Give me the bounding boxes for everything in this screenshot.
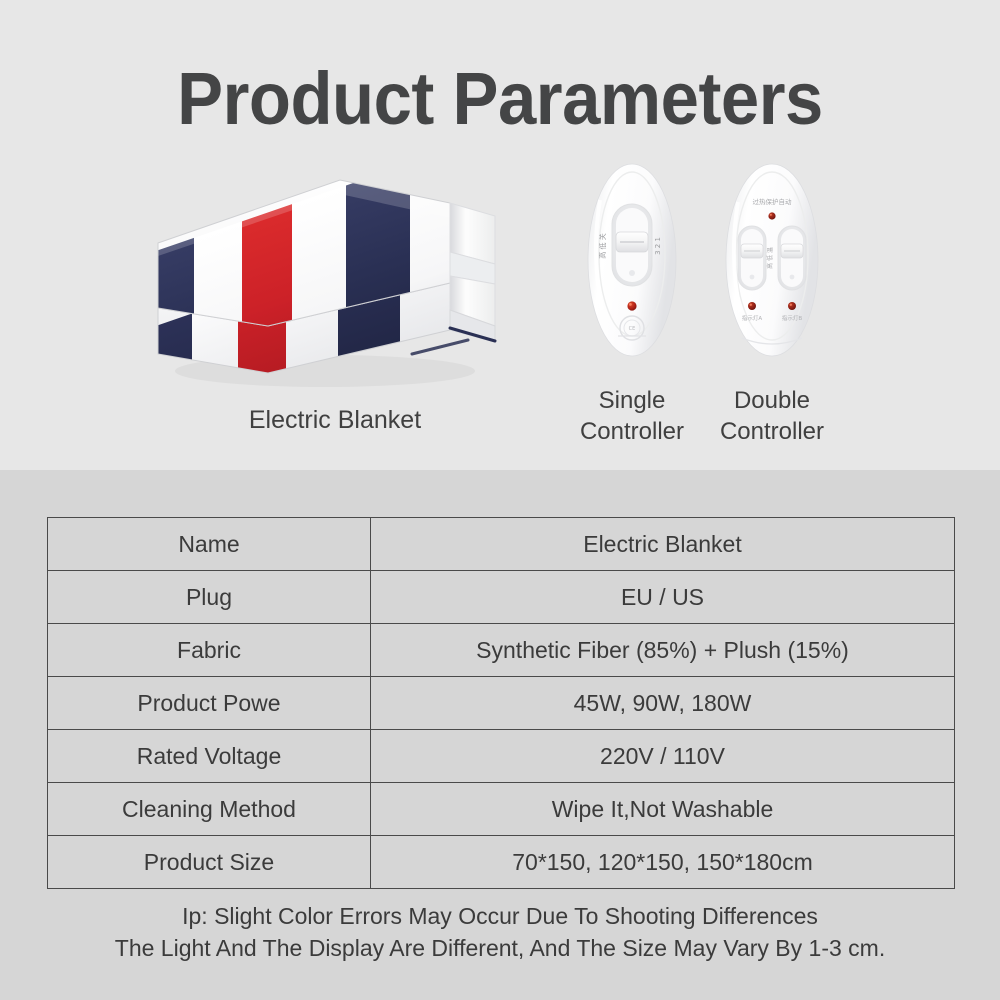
svg-text:CE: CE: [629, 326, 636, 332]
spec-value: EU / US: [371, 571, 955, 624]
table-row: Cleaning Method Wipe It,Not Washable: [48, 783, 955, 836]
double-slider-controller-icon: 过热保护自动 高 低 温 指示灯A 指示灯B: [712, 160, 832, 360]
spec-key: Name: [48, 518, 371, 571]
double-controller-label: Double Controller: [687, 385, 857, 447]
spec-value: Electric Blanket: [371, 518, 955, 571]
spec-value: 45W, 90W, 180W: [371, 677, 955, 730]
table-row: Name Electric Blanket: [48, 518, 955, 571]
single-controller-figure: 高 低 关 3 2 1 CE Single Controller: [557, 160, 707, 460]
spec-key: Rated Voltage: [48, 730, 371, 783]
table-row: Product Size 70*150, 120*150, 150*180cm: [48, 836, 955, 889]
svg-text:3 2 1: 3 2 1: [654, 237, 662, 255]
table-row: Fabric Synthetic Fiber (85%) + Plush (15…: [48, 624, 955, 677]
footer-note: Ip: Slight Color Errors May Occur Due To…: [0, 900, 1000, 964]
double-controller-label-line2: Controller: [687, 416, 857, 447]
spec-key: Product Size: [48, 836, 371, 889]
table-row: Product Powe 45W, 90W, 180W: [48, 677, 955, 730]
spec-value: Wipe It,Not Washable: [371, 783, 955, 836]
spec-key: Cleaning Method: [48, 783, 371, 836]
spec-value: Synthetic Fiber (85%) + Plush (15%): [371, 624, 955, 677]
spec-key: Product Powe: [48, 677, 371, 730]
svg-text:指示灯A: 指示灯A: [742, 314, 763, 322]
hero-section: Product Parameters: [0, 0, 1000, 470]
svg-text:过热保护自动: 过热保护自动: [753, 197, 793, 206]
svg-text:指示灯B: 指示灯B: [782, 314, 803, 322]
page-title: Product Parameters: [35, 56, 965, 142]
blanket-label: Electric Blanket: [120, 406, 550, 435]
spec-key: Fabric: [48, 624, 371, 677]
svg-text:高 低 关: 高 低 关: [598, 233, 607, 258]
double-controller-label-line1: Double: [687, 385, 857, 416]
double-controller-figure: 过热保护自动 高 低 温 指示灯A 指示灯B: [697, 160, 847, 460]
folded-striped-blanket-icon: [150, 158, 520, 393]
spec-section: Name Electric Blanket Plug EU / US Fabri…: [0, 470, 1000, 1000]
footer-note-line1: Ip: Slight Color Errors May Occur Due To…: [0, 900, 1000, 932]
table-row: Rated Voltage 220V / 110V: [48, 730, 955, 783]
spec-value: 220V / 110V: [371, 730, 955, 783]
spec-value: 70*150, 120*150, 150*180cm: [371, 836, 955, 889]
svg-text:高 低 温: 高 低 温: [766, 247, 774, 269]
spec-key: Plug: [48, 571, 371, 624]
footer-note-line2: The Light And The Display Are Different,…: [0, 932, 1000, 964]
table-row: Plug EU / US: [48, 571, 955, 624]
single-slider-controller-icon: 高 低 关 3 2 1 CE: [572, 160, 692, 360]
spec-table: Name Electric Blanket Plug EU / US Fabri…: [47, 517, 955, 889]
blanket-figure: Electric Blanket: [150, 158, 520, 458]
